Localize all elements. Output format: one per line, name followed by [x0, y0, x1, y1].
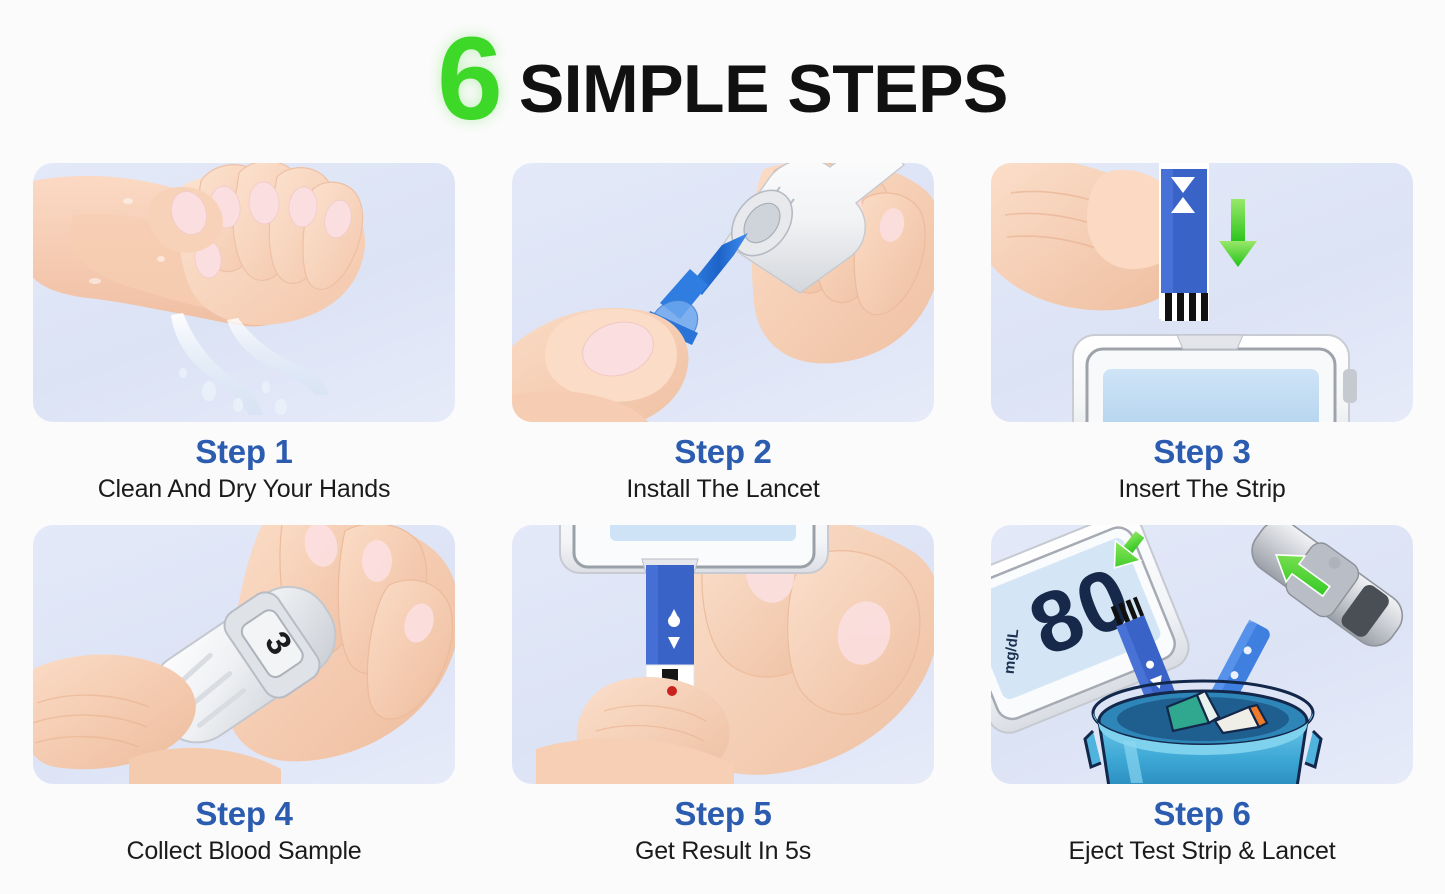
step-desc-1: Clean And Dry Your Hands	[33, 473, 455, 507]
step-image-2	[512, 163, 934, 422]
get-result-illustration	[512, 525, 934, 784]
water-stream	[171, 313, 263, 415]
step-caption-2: Step 2 Install The Lancet	[512, 422, 934, 507]
install-lancet-illustration	[512, 163, 934, 422]
step-label-1: Step 1	[33, 434, 455, 470]
steps-grid: Step 1 Clean And Dry Your Hands	[33, 163, 1413, 869]
step-image-3	[991, 163, 1413, 422]
green-down-arrow	[1219, 199, 1257, 267]
glucose-meter	[1073, 335, 1357, 422]
page-title: SIMPLE STEPS	[519, 55, 1008, 123]
step-desc-3: Insert The Strip	[991, 473, 1413, 507]
insert-strip-illustration	[991, 163, 1413, 422]
step-caption-4: Step 4 Collect Blood Sample	[33, 784, 455, 869]
step-label-4: Step 4	[33, 796, 455, 832]
step-image-1	[33, 163, 455, 422]
step-card-2: Step 2 Install The Lancet	[512, 163, 934, 507]
step-caption-6: Step 6 Eject Test Strip & Lancet	[991, 784, 1413, 869]
washing-hands-illustration	[33, 163, 455, 422]
trash-bin	[1085, 681, 1321, 784]
step-card-1: Step 1 Clean And Dry Your Hands	[33, 163, 455, 507]
step-label-5: Step 5	[512, 796, 934, 832]
step-count-number: 6	[437, 20, 501, 138]
collect-blood-illustration: 3	[33, 525, 455, 784]
step-caption-5: Step 5 Get Result In 5s	[512, 784, 934, 869]
step-card-6: mg/dL 80	[991, 525, 1413, 869]
blue-test-strip	[646, 565, 694, 689]
blood-drop	[667, 686, 677, 696]
step-desc-4: Collect Blood Sample	[33, 835, 455, 869]
step-card-3: Step 3 Insert The Strip	[991, 163, 1413, 507]
step-desc-6: Eject Test Strip & Lancet	[991, 835, 1413, 869]
step-label-6: Step 6	[991, 796, 1413, 832]
step-label-2: Step 2	[512, 434, 934, 470]
step-label-3: Step 3	[991, 434, 1413, 470]
page-header: 6 SIMPLE STEPS	[0, 18, 1445, 136]
step-desc-2: Install The Lancet	[512, 473, 934, 507]
step-caption-3: Step 3 Insert The Strip	[991, 422, 1413, 507]
eject-strip-lancet-illustration: mg/dL 80	[991, 525, 1413, 784]
step-caption-1: Step 1 Clean And Dry Your Hands	[33, 422, 455, 507]
infographic-page: 6 SIMPLE STEPS	[0, 0, 1445, 894]
step-card-5: Step 5 Get Result In 5s	[512, 525, 934, 869]
step-image-5	[512, 525, 934, 784]
blue-test-strip	[1159, 163, 1209, 321]
step-image-4: 3	[33, 525, 455, 784]
step-card-4: 3 Step 4 Collect Bl	[33, 525, 455, 869]
step-image-6: mg/dL 80	[991, 525, 1413, 784]
step-desc-5: Get Result In 5s	[512, 835, 934, 869]
